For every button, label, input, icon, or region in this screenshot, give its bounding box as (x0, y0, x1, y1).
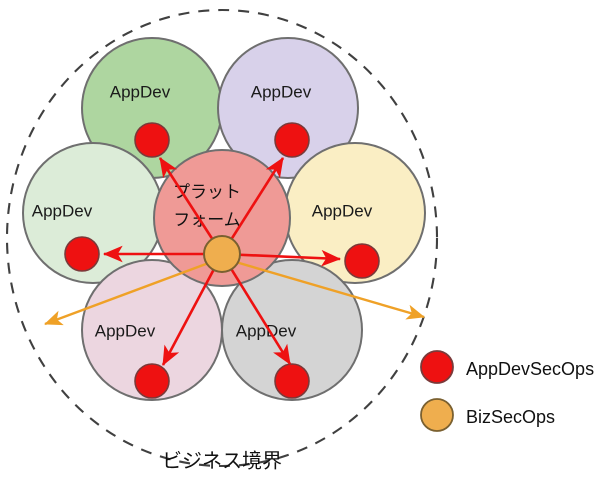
bizsecops-hub-node[interactable] (204, 236, 240, 272)
appdevsecops-dot-left[interactable] (65, 237, 99, 271)
appdevsecops-dot-right[interactable] (345, 244, 379, 278)
appdevsecops-dot-top-left[interactable] (135, 123, 169, 157)
legend-bizsecops-swatch (421, 399, 453, 431)
appdev-top-right-label: AppDev (251, 82, 312, 101)
legend-appdevsecops-label: AppDevSecOps (466, 359, 594, 379)
legend: AppDevSecOps BizSecOps (421, 351, 594, 431)
business-boundary-caption: ビジネス境界 (162, 449, 282, 472)
appdev-left-label: AppDev (32, 201, 93, 220)
platform-label-line2: フォーム (173, 210, 241, 229)
appdev-top-left-label: AppDev (110, 82, 171, 101)
legend-appdevsecops-swatch (421, 351, 453, 383)
appdevsecops-dot-bottom-right[interactable] (275, 364, 309, 398)
appdevsecops-dot-top-right[interactable] (275, 123, 309, 157)
diagram-root: AppDev AppDev AppDev AppDev AppDev AppDe… (0, 0, 614, 504)
legend-bizsecops-label: BizSecOps (466, 407, 555, 427)
business-boundary-diagram: AppDev AppDev AppDev AppDev AppDev AppDe… (0, 0, 614, 504)
appdev-right-label: AppDev (312, 201, 373, 220)
appdev-bottom-left-label: AppDev (95, 321, 156, 340)
appdevsecops-dot-bottom-left[interactable] (135, 364, 169, 398)
